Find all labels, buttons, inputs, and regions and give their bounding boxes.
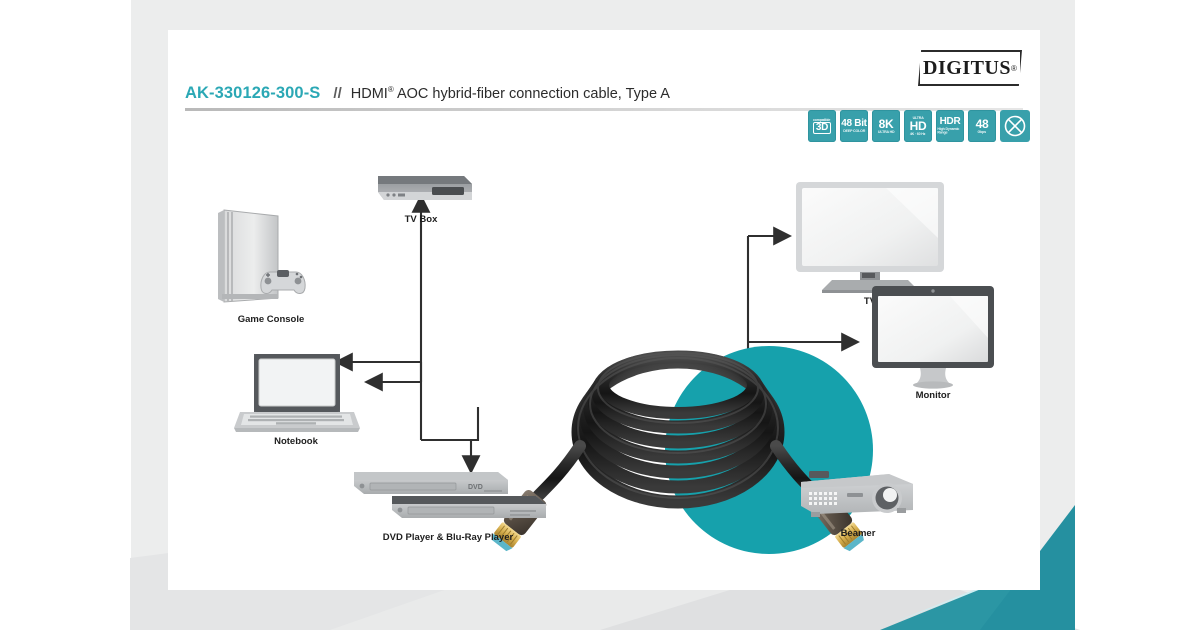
device-monitor: Monitor bbox=[868, 282, 998, 394]
notebook-icon bbox=[232, 350, 360, 440]
description-post: AOC hybrid-fiber connection cable, Type … bbox=[394, 86, 670, 102]
3d-badge: compatible 3D bbox=[808, 110, 836, 142]
svg-text:DVD: DVD bbox=[468, 484, 483, 491]
device-dvd-player: DVD DVD Player & Blu-Ray Player bbox=[348, 460, 548, 530]
description-pre: HDMI bbox=[351, 86, 388, 102]
tv-box-icon bbox=[366, 170, 476, 212]
48gbps-badge: 48 Gbps bbox=[968, 110, 996, 142]
device-tv: TV bbox=[790, 178, 950, 296]
48bit-badge-sub: DEEP COLOR bbox=[843, 129, 865, 133]
hdr-badge: HDR High Dynamic Range bbox=[936, 110, 964, 142]
device-tv-box: TV Box bbox=[366, 170, 476, 212]
monitor-label: Monitor bbox=[813, 390, 1053, 401]
product-description: HDMI® AOC hybrid-fiber connection cable,… bbox=[351, 85, 670, 102]
hdr-badge-main: HDR bbox=[940, 117, 961, 127]
notebook-label: Notebook bbox=[176, 436, 416, 447]
product-sku: AK-330126-300-S bbox=[185, 84, 320, 103]
monitor-icon bbox=[868, 282, 998, 394]
game-console-label: Game Console bbox=[151, 314, 391, 325]
dvd-player-icon: DVD bbox=[348, 460, 548, 530]
no-emi-badge bbox=[1000, 110, 1030, 142]
8k-badge-main: 8K bbox=[879, 118, 894, 130]
title-separator: // bbox=[333, 85, 341, 102]
device-notebook: Notebook bbox=[232, 350, 360, 440]
48bit-badge: 48 Bit DEEP COLOR bbox=[840, 110, 868, 142]
8k-badge: 8K ULTRA HD bbox=[872, 110, 900, 142]
device-beamer: Beamer bbox=[793, 462, 923, 532]
ultrahd-badge-main: HD bbox=[910, 120, 927, 132]
product-title-row: AK-330126-300-S // HDMI® AOC hybrid-fibe… bbox=[185, 84, 670, 103]
hdr-badge-sub: High Dynamic Range bbox=[937, 127, 962, 134]
feature-badge-row: compatible 3D 48 Bit DEEP COLOR 8K ULTRA… bbox=[808, 110, 1030, 142]
8k-badge-sub: ULTRA HD bbox=[878, 130, 895, 134]
ultrahd-badge: ULTRA HD 4K · 60 Hz bbox=[904, 110, 932, 142]
no-emi-icon bbox=[1003, 114, 1027, 138]
background-white-right bbox=[1075, 0, 1200, 630]
ultrahd-badge-top: ULTRA bbox=[912, 116, 923, 120]
3d-badge-top: compatible bbox=[813, 118, 830, 122]
connection-diagram: Game Console TV Box bbox=[168, 150, 1040, 570]
beamer-icon bbox=[793, 462, 923, 532]
hdmi-aoc-cable-coil bbox=[468, 310, 888, 600]
background-white-left bbox=[0, 0, 131, 630]
digitus-logo: DIGITUS® bbox=[918, 50, 1022, 86]
logo-wordmark: DIGITUS bbox=[923, 57, 1011, 80]
ultrahd-badge-sub: 4K · 60 Hz bbox=[910, 132, 925, 136]
logo-trademark-symbol: ® bbox=[1011, 64, 1017, 73]
tv-icon bbox=[790, 178, 950, 296]
screenshot-root: DIGITUS® AK-330126-300-S // HDMI® AOC hy… bbox=[0, 0, 1200, 630]
dvd-player-label: DVD Player & Blu-Ray Player bbox=[328, 532, 568, 543]
logo-inner: DIGITUS® bbox=[918, 50, 1022, 86]
48gbps-badge-sub: Gbps bbox=[978, 130, 986, 134]
48gbps-badge-main: 48 bbox=[976, 118, 989, 130]
beamer-label: Beamer bbox=[738, 528, 978, 539]
tv-box-label: TV Box bbox=[301, 214, 541, 225]
3d-badge-main: 3D bbox=[813, 122, 831, 134]
